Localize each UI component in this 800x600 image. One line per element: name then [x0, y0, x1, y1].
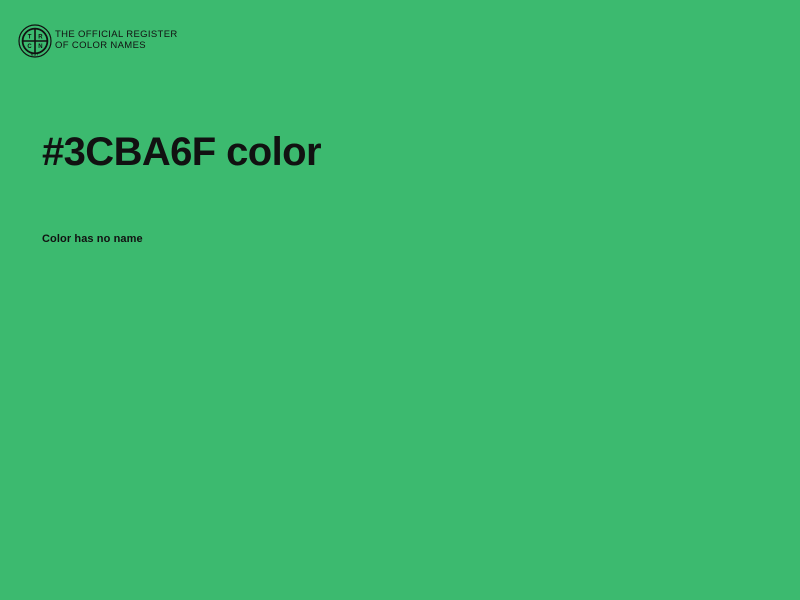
color-name-status: Color has no name — [42, 176, 742, 246]
brand-line-2: OF COLOR NAMES — [55, 41, 178, 52]
svg-text:N: N — [38, 44, 42, 50]
svg-text:T: T — [28, 35, 32, 41]
brand-header[interactable]: T R C N EST THE OFFICIAL REGISTER OF COL… — [18, 24, 178, 58]
page-title: #3CBA6F color — [42, 128, 742, 176]
svg-text:EST: EST — [31, 52, 39, 56]
color-page: T R C N EST THE OFFICIAL REGISTER OF COL… — [0, 0, 800, 600]
color-info-block: #3CBA6F color Color has no name — [42, 128, 742, 246]
brand-line-1: THE OFFICIAL REGISTER — [55, 30, 178, 41]
svg-text:C: C — [27, 44, 32, 50]
svg-text:R: R — [38, 35, 43, 41]
brand-wordmark: THE OFFICIAL REGISTER OF COLOR NAMES — [55, 30, 178, 52]
register-seal-icon: T R C N EST — [18, 24, 52, 58]
